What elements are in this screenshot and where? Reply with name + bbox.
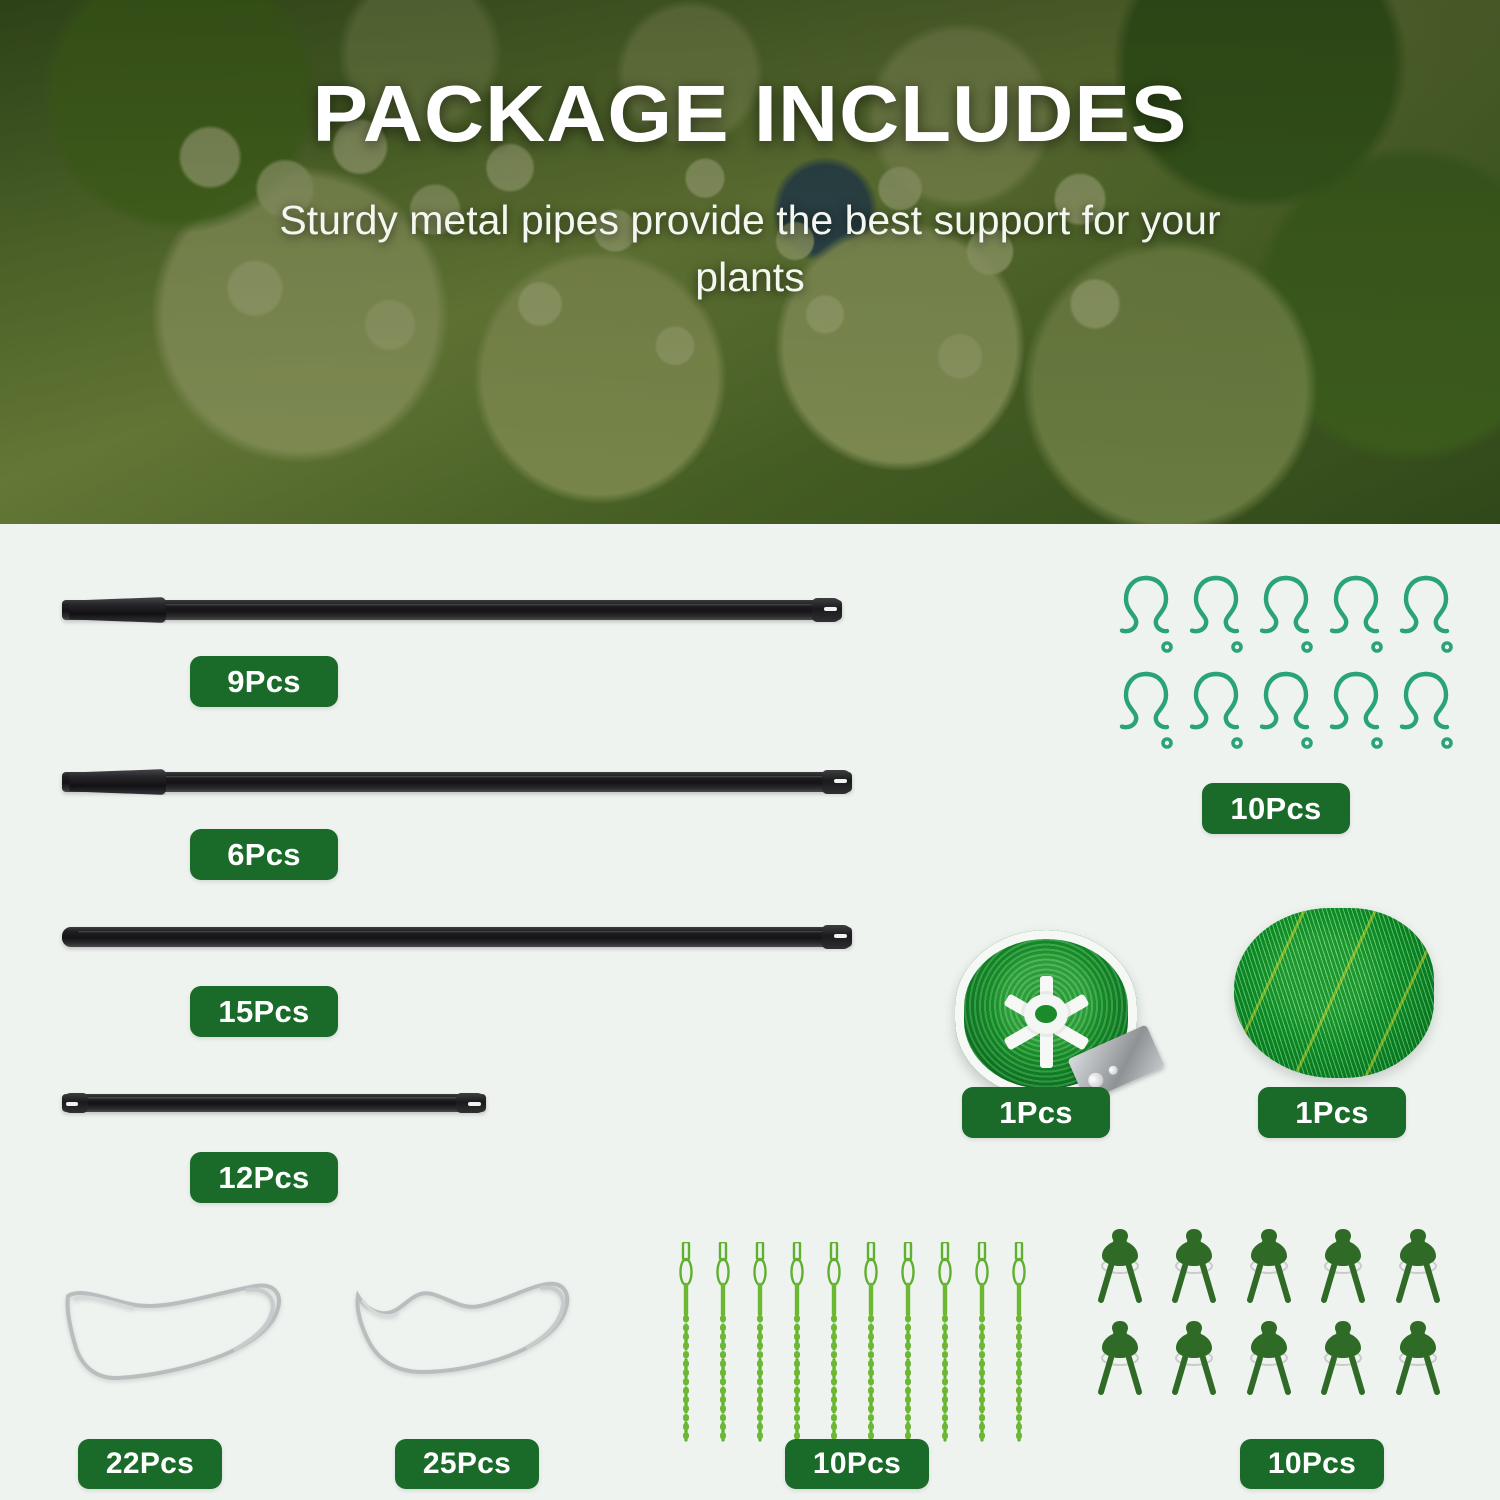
hook-clip-icon (1398, 572, 1454, 660)
cable-tie-icon (863, 1242, 879, 1452)
hook-clip-icon (1188, 668, 1244, 756)
hook-clip-icon (1398, 668, 1454, 756)
quantity-badge: 15Pcs (190, 986, 338, 1037)
hero-banner: PACKAGE INCLUDES Sturdy metal pipes prov… (0, 0, 1500, 524)
part-wire-clip-22 (60, 1274, 292, 1399)
qty-badge-long-pipe-9: 9Pcs (190, 656, 338, 707)
quantity-badge: 25Pcs (395, 1439, 539, 1489)
hook-clip-icon (1328, 572, 1384, 660)
hook-clip-icon (1258, 572, 1314, 660)
ground-stake-icon (1094, 1226, 1146, 1304)
cable-tie-icon (715, 1242, 731, 1452)
qty-badge-wire-clip-22: 22Pcs (78, 1439, 222, 1489)
cable-tie-icon (1011, 1242, 1027, 1452)
quantity-badge: 1Pcs (962, 1087, 1110, 1138)
netting-icon (1234, 908, 1434, 1078)
ground-stake-icon (1243, 1226, 1295, 1304)
qty-badge-trellis-net: 1Pcs (1258, 1087, 1406, 1138)
ground-stake-icon (1392, 1318, 1444, 1396)
wire-spool-icon (955, 922, 1145, 1112)
part-long-pipe-6 (62, 769, 852, 795)
cable-tie-icon (752, 1242, 768, 1452)
pipe-icon (62, 597, 842, 623)
quantity-badge: 22Pcs (78, 1439, 222, 1489)
qty-badge-plant-hooks: 10Pcs (1202, 783, 1350, 834)
pipe-icon (62, 924, 852, 950)
qty-badge-wire-spool: 1Pcs (962, 1087, 1110, 1138)
page-subtitle: Sturdy metal pipes provide the best supp… (245, 154, 1255, 305)
quantity-badge: 10Pcs (785, 1439, 929, 1489)
hook-clip-icon (1328, 668, 1384, 756)
ground-stake-icon (1392, 1226, 1444, 1304)
quantity-badge: 12Pcs (190, 1152, 338, 1203)
qty-badge-long-pipe-6: 6Pcs (190, 829, 338, 880)
ground-stake-icon (1317, 1318, 1369, 1396)
pipe-icon (62, 1092, 486, 1114)
quantity-badge: 10Pcs (1240, 1439, 1384, 1489)
cable-tie-icon (937, 1242, 953, 1452)
qty-badge-cable-ties: 10Pcs (785, 1439, 929, 1489)
ground-stake-icon (1243, 1318, 1295, 1396)
part-long-pipe-15 (62, 924, 852, 950)
wire-clip-icon (352, 1276, 574, 1394)
qty-badge-ground-stakes: 10Pcs (1240, 1439, 1384, 1489)
quantity-badge: 9Pcs (190, 656, 338, 707)
wire-clip-icon (60, 1274, 292, 1394)
ground-stake-icon (1168, 1318, 1220, 1396)
part-cable-ties (678, 1242, 1027, 1452)
ground-stake-icon (1168, 1226, 1220, 1304)
hero-text-block: PACKAGE INCLUDES Sturdy metal pipes prov… (0, 0, 1500, 305)
cable-tie-icon (678, 1242, 694, 1452)
quantity-badge: 6Pcs (190, 829, 338, 880)
part-plant-hook-clips (1118, 572, 1448, 756)
hook-clip-icon (1118, 572, 1174, 660)
hook-clip-icon (1118, 668, 1174, 756)
part-trellis-net (1234, 908, 1434, 1078)
quantity-badge: 1Pcs (1258, 1087, 1406, 1138)
ground-stake-grid (1094, 1226, 1446, 1396)
hook-clip-grid (1118, 572, 1448, 756)
cable-tie-icon (900, 1242, 916, 1452)
quantity-badge: 10Pcs (1202, 783, 1350, 834)
hook-clip-icon (1188, 572, 1244, 660)
pipe-icon (62, 769, 852, 795)
page-title: PACKAGE INCLUDES (0, 0, 1500, 154)
parts-board: 9Pcs 6Pcs 15Pcs 12Pcs (0, 524, 1500, 1500)
cable-tie-icon (789, 1242, 805, 1452)
cable-tie-icon (974, 1242, 990, 1452)
cable-tie-row (678, 1242, 1027, 1452)
hook-clip-icon (1258, 668, 1314, 756)
qty-badge-short-pipe-12: 12Pcs (190, 1152, 338, 1203)
part-short-pipe-12 (62, 1092, 486, 1114)
ground-stake-icon (1317, 1226, 1369, 1304)
part-long-pipe-9 (62, 597, 842, 623)
part-wire-spool (955, 922, 1145, 1112)
qty-badge-wire-clip-25: 25Pcs (395, 1439, 539, 1489)
part-ground-stakes (1094, 1226, 1446, 1396)
ground-stake-icon (1094, 1318, 1146, 1396)
package-includes-infographic: PACKAGE INCLUDES Sturdy metal pipes prov… (0, 0, 1500, 1500)
qty-badge-long-pipe-15: 15Pcs (190, 986, 338, 1037)
part-wire-clip-25 (352, 1276, 574, 1399)
cable-tie-icon (826, 1242, 842, 1452)
